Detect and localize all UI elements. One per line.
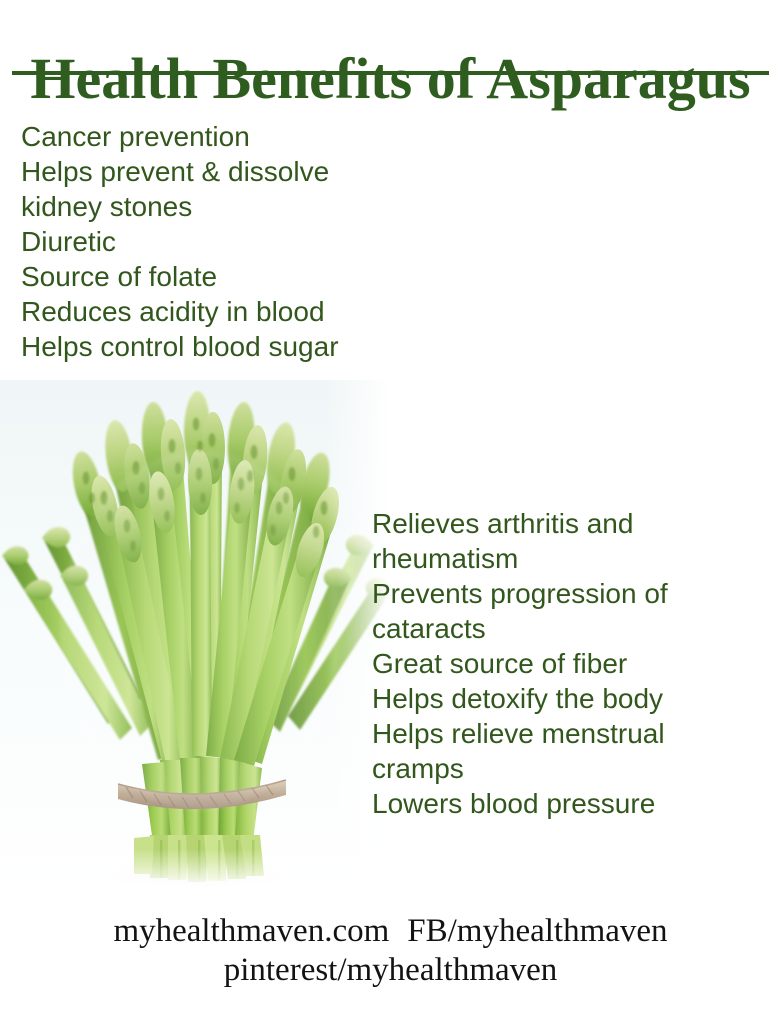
benefits-list-top: Cancer prevention Helps prevent & dissol… [21, 119, 339, 364]
list-item: Helps detoxify the body [372, 681, 668, 716]
infographic-poster: Health Benefits of Asparagus Cancer prev… [0, 0, 781, 1024]
list-item: rheumatism [372, 541, 668, 576]
list-item: Great source of fiber [372, 646, 668, 681]
footer-line-2: pinterest/myhealthmaven [0, 951, 781, 990]
list-item: Helps relieve menstrual [372, 716, 668, 751]
list-item: Cancer prevention [21, 119, 339, 154]
list-item: Helps prevent & dissolve [21, 154, 339, 189]
facebook-credit: FB/myhealthmaven [407, 913, 667, 949]
page-title: Health Benefits of Asparagus [30, 47, 750, 111]
photo-bottom-fade [0, 849, 396, 895]
list-item: cataracts [372, 611, 668, 646]
list-item: Diuretic [21, 224, 339, 259]
list-item: cramps [372, 751, 668, 786]
benefits-list-bottom: Relieves arthritis and rheumatism Preven… [372, 506, 668, 821]
asparagus-photo [0, 380, 396, 895]
pinterest-credit: pinterest/myhealthmaven [224, 952, 558, 988]
website-credit: myhealthmaven.com [113, 913, 389, 949]
list-item: kidney stones [21, 189, 339, 224]
title-underline-rule [12, 71, 769, 75]
list-item: Relieves arthritis and [372, 506, 668, 541]
list-item: Source of folate [21, 259, 339, 294]
list-item: Prevents progression of [372, 576, 668, 611]
list-item: Lowers blood pressure [372, 786, 668, 821]
footer-line-1: myhealthmaven.comFB/myhealthmaven [0, 912, 781, 951]
list-item: Helps control blood sugar [21, 329, 339, 364]
list-item: Reduces acidity in blood [21, 294, 339, 329]
footer-credits: myhealthmaven.comFB/myhealthmaven pinter… [0, 912, 781, 990]
